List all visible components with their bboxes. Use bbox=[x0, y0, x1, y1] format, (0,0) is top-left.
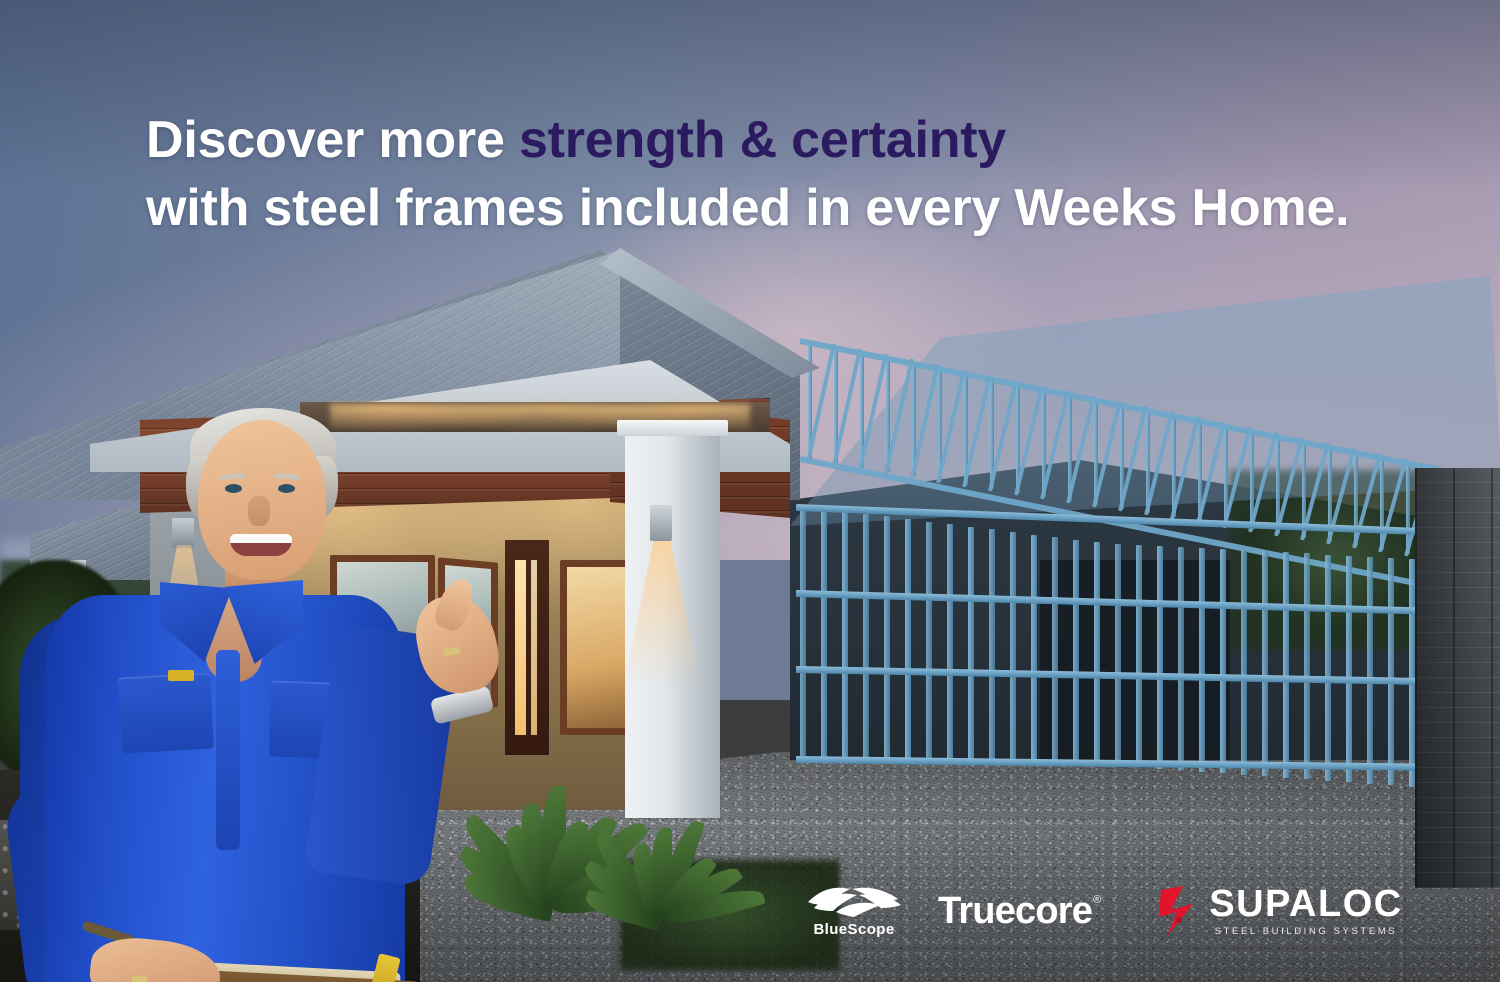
presenter-shirt-placket bbox=[216, 650, 240, 850]
entry-column-cap bbox=[617, 420, 728, 436]
supaloc-wordmark: SUPALOC bbox=[1209, 885, 1402, 923]
headline-line-1: Discover more strength & certainty bbox=[146, 106, 1346, 174]
supaloc-logo: SUPALOC STEEL BUILDING SYSTEMS bbox=[1159, 884, 1402, 938]
nose bbox=[248, 496, 270, 526]
wall-stud bbox=[905, 519, 911, 759]
truecore-wordmark: Truecore bbox=[938, 892, 1092, 930]
brick-wall-shading bbox=[1415, 468, 1500, 888]
wall-stud bbox=[1094, 542, 1100, 764]
wall-stud bbox=[884, 516, 890, 758]
presenter-shirt-pocket-left bbox=[118, 673, 214, 754]
wall-stud bbox=[1262, 551, 1268, 776]
wall-stud bbox=[968, 527, 974, 761]
wall-stud bbox=[1325, 555, 1331, 781]
presenter bbox=[20, 400, 520, 982]
bluescope-wordmark: BlueScope bbox=[813, 921, 894, 938]
wall-stud bbox=[1304, 553, 1310, 779]
wall-stud bbox=[989, 529, 995, 761]
wall-stud bbox=[1178, 547, 1184, 771]
wall-stud bbox=[947, 524, 953, 760]
supaloc-tagline: STEEL BUILDING SYSTEMS bbox=[1209, 926, 1402, 937]
smile bbox=[230, 534, 292, 556]
headline-accent-phrase: strength & certainty bbox=[519, 111, 1006, 169]
wall-stud bbox=[1031, 535, 1037, 763]
wall-stud bbox=[821, 509, 827, 757]
headline-line-1-prefix: Discover more bbox=[146, 111, 519, 169]
supaloc-text-block: SUPALOC STEEL BUILDING SYSTEMS bbox=[1209, 885, 1402, 937]
wall-stud bbox=[1199, 548, 1205, 772]
eye-right bbox=[278, 484, 295, 493]
truecore-logo: Truecore ® bbox=[938, 892, 1101, 930]
wall-stud bbox=[1136, 545, 1142, 768]
bluescope-waves-icon bbox=[806, 884, 902, 918]
wall-light-icon bbox=[650, 505, 672, 541]
steel-wall-studs bbox=[790, 470, 1500, 790]
wall-stud bbox=[863, 514, 869, 758]
foliage-plant-b bbox=[590, 720, 740, 920]
bluescope-logo: BlueScope bbox=[806, 884, 902, 938]
wall-stud bbox=[1220, 549, 1226, 773]
wall-stud bbox=[842, 511, 848, 757]
truecore-registered-icon: ® bbox=[1093, 894, 1101, 906]
wall-stud bbox=[1115, 544, 1121, 766]
headline: Discover more strength & certainty with … bbox=[146, 106, 1346, 242]
banner-image: Discover more strength & certainty with … bbox=[0, 0, 1500, 982]
wall-stud bbox=[926, 522, 932, 760]
eye-left bbox=[225, 484, 242, 493]
supaloc-bolt-icon bbox=[1159, 884, 1205, 938]
ring-left-hand bbox=[132, 976, 147, 982]
wall-stud bbox=[1073, 540, 1079, 764]
wall-stud bbox=[1367, 557, 1373, 784]
wall-stud bbox=[1157, 546, 1163, 769]
logo-strip: BlueScope Truecore ® SUPALOC STEEL BUILD… bbox=[806, 876, 1346, 946]
headline-line-2: with steel frames included in every Week… bbox=[146, 174, 1346, 242]
wall-stud bbox=[800, 506, 806, 756]
wall-stud bbox=[1283, 552, 1289, 778]
shirt-brand-tag bbox=[168, 670, 194, 681]
wall-stud bbox=[1241, 550, 1247, 775]
wall-stud bbox=[1388, 558, 1394, 786]
wall-noggin bbox=[796, 504, 1496, 538]
wall-stud bbox=[1346, 556, 1352, 783]
wall-stud bbox=[1010, 532, 1016, 762]
wall-stud bbox=[1052, 537, 1058, 763]
